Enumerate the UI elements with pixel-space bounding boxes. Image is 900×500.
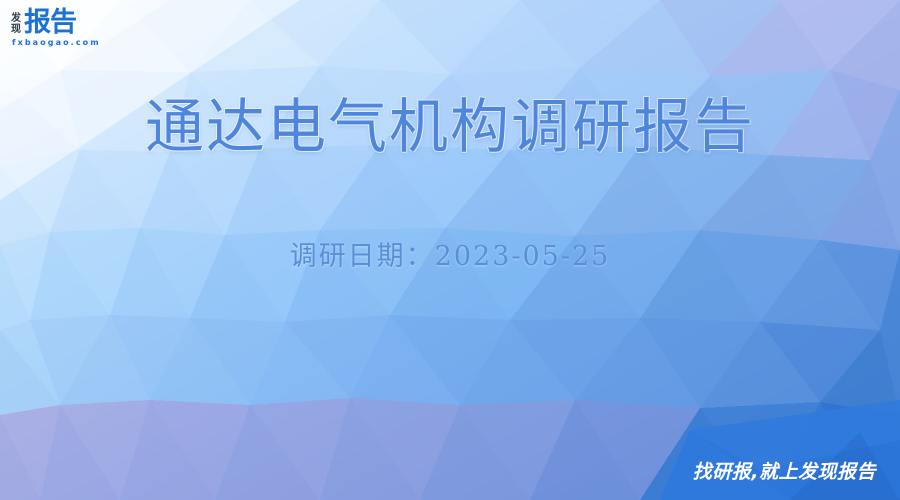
logo-wordmark-row: 发 现 报告 [11,9,101,36]
logo-char-xian: 现 [11,24,21,35]
page-title: 通达电气机构调研报告 [0,92,900,162]
logo-main-text: 报告 [24,9,76,36]
logo-stacked-chars: 发 现 [11,13,21,36]
survey-date-subtitle: 调研日期：2023-05-25 [0,240,900,274]
report-cover-page: 发 现 报告 fxbaogao.com 通达电气机构调研报告 调研日期：2023… [0,0,900,500]
brand-logo[interactable]: 发 现 报告 fxbaogao.com [11,9,101,48]
logo-char-fa: 发 [11,13,21,24]
footer-slogan: 找研报,就上发现报告 [693,460,876,484]
logo-domain-text: fxbaogao.com [12,38,101,48]
